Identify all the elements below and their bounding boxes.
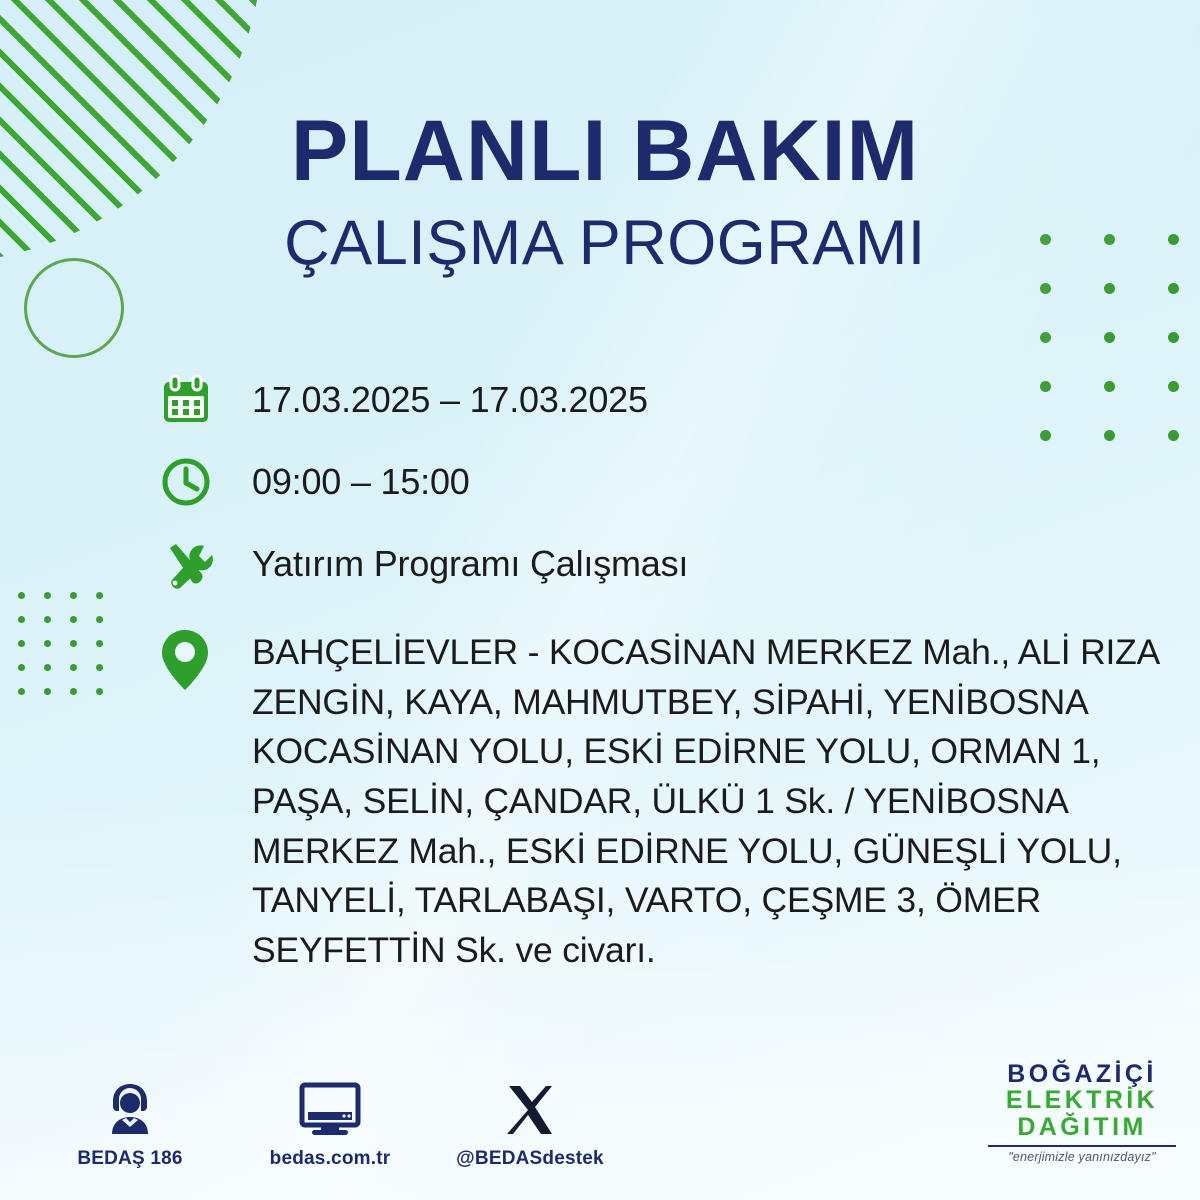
support-agent-icon xyxy=(100,1076,160,1138)
dot xyxy=(96,616,103,623)
dot xyxy=(96,664,103,671)
contact-list: BEDAŞ 186 bedas.com.tr xyxy=(55,1076,605,1170)
dot xyxy=(1104,283,1115,294)
dot xyxy=(70,616,77,623)
clock-icon xyxy=(160,454,252,508)
dot xyxy=(96,688,103,695)
dot xyxy=(44,616,51,623)
dot xyxy=(44,592,51,599)
dot xyxy=(70,664,77,671)
contact-website-label: bedas.com.tr xyxy=(270,1148,391,1170)
contact-phone[interactable]: BEDAŞ 186 xyxy=(55,1076,205,1170)
time-range-value: 09:00 – 15:00 xyxy=(252,454,1160,506)
brand-line-2: ELEKTRİK xyxy=(982,1087,1182,1114)
detail-row-location: BAHÇELİEVLER - KOCASİNAN MERKEZ Mah., AL… xyxy=(160,626,1160,976)
dot xyxy=(44,688,51,695)
dot xyxy=(1168,332,1179,343)
dot xyxy=(1040,332,1051,343)
tools-icon xyxy=(160,538,252,594)
dot xyxy=(70,688,77,695)
brand-divider xyxy=(988,1145,1176,1147)
dot xyxy=(44,664,51,671)
page-title: PLANLI BAKIM xyxy=(0,108,1200,194)
dot xyxy=(44,640,51,647)
dot xyxy=(1104,332,1115,343)
dot xyxy=(1040,283,1051,294)
brand-line-1: BOĞAZİÇİ xyxy=(982,1061,1182,1088)
dot xyxy=(18,640,25,647)
dot xyxy=(96,640,103,647)
contact-phone-label: BEDAŞ 186 xyxy=(77,1148,182,1170)
dot xyxy=(18,616,25,623)
detail-row-date: 17.03.2025 – 17.03.2025 xyxy=(160,372,1160,426)
detail-row-time: 09:00 – 15:00 xyxy=(160,454,1160,508)
work-type-value: Yatırım Programı Çalışması xyxy=(252,538,1160,588)
contact-website[interactable]: bedas.com.tr xyxy=(255,1076,405,1170)
poster-footer: BEDAŞ 186 bedas.com.tr xyxy=(0,1048,1200,1178)
brand-tagline: "enerjimizle yanınızdayız" xyxy=(982,1150,1182,1164)
detail-row-work-type: Yatırım Programı Çalışması xyxy=(160,538,1160,594)
x-twitter-icon xyxy=(502,1076,558,1138)
calendar-icon xyxy=(160,372,252,426)
dot xyxy=(70,640,77,647)
date-range-value: 17.03.2025 – 17.03.2025 xyxy=(252,372,1160,424)
bogazici-elektrik-dagitim-logo: BOĞAZİÇİ ELEKTRİK DAĞITIM "enerjimizle y… xyxy=(982,1061,1182,1165)
location-pin-icon xyxy=(160,626,252,692)
page-subtitle: ÇALIŞMA PROGRAMI xyxy=(0,212,1200,275)
monitor-icon xyxy=(299,1076,361,1138)
dot xyxy=(70,592,77,599)
dot-grid-left-decoration xyxy=(18,592,122,712)
dot xyxy=(18,664,25,671)
dot xyxy=(1168,381,1179,392)
brand-line-3: DAĞITIM xyxy=(982,1114,1182,1141)
dot xyxy=(1168,283,1179,294)
contact-x-handle[interactable]: @BEDASdestek xyxy=(455,1076,605,1170)
poster-heading-block: PLANLI BAKIM ÇALIŞMA PROGRAMI xyxy=(0,108,1200,275)
planned-maintenance-poster: PLANLI BAKIM ÇALIŞMA PROGRAMI 17 xyxy=(0,0,1200,1200)
dot xyxy=(18,688,25,695)
maintenance-details: 17.03.2025 – 17.03.2025 09:00 – 15:00 xyxy=(160,372,1160,976)
contact-x-label: @BEDASdestek xyxy=(456,1148,604,1170)
dot xyxy=(18,592,25,599)
location-value: BAHÇELİEVLER - KOCASİNAN MERKEZ Mah., AL… xyxy=(252,626,1160,976)
dot xyxy=(96,592,103,599)
dot xyxy=(1168,430,1179,441)
